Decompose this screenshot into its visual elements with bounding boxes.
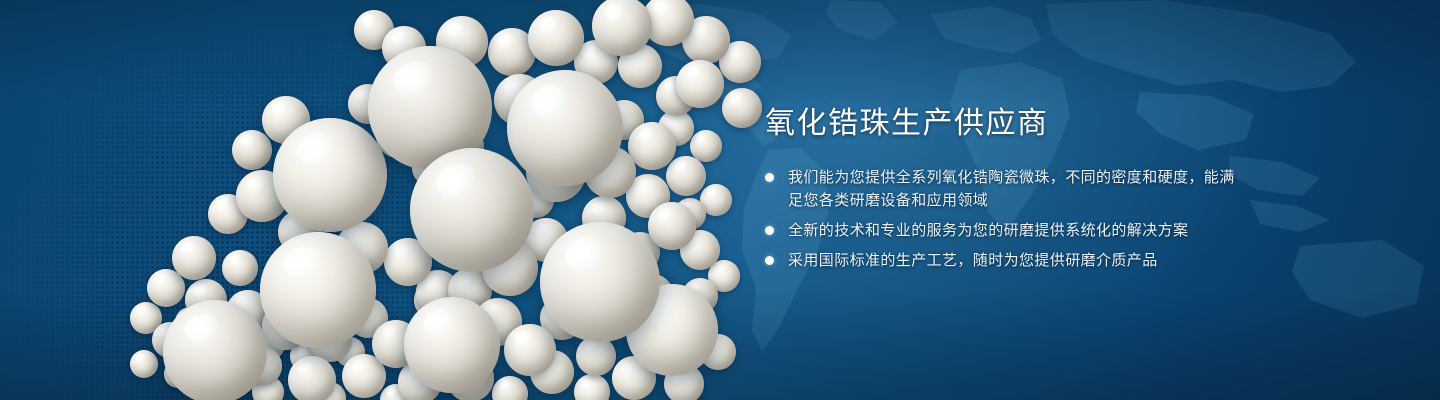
list-item: 我们能为您提供全系列氧化锆陶瓷微珠，不同的密度和硬度，能满足您各类研磨设备和应用… (765, 166, 1235, 212)
banner-copy: 氧化锆珠生产供应商 我们能为您提供全系列氧化锆陶瓷微珠，不同的密度和硬度，能满足… (765, 104, 1235, 279)
bead (273, 118, 387, 232)
bead (648, 202, 696, 250)
list-item-label: 采用国际标准的生产工艺，随时为您提供研磨介质产品 (788, 249, 1158, 272)
bead (628, 122, 676, 170)
bead (163, 300, 267, 400)
page-title: 氧化锆珠生产供应商 (765, 104, 1235, 144)
bead (528, 10, 584, 66)
bead (410, 148, 534, 272)
bead (404, 297, 500, 393)
list-item-label: 全新的技术和专业的服务为您的研磨提供系统化的解决方案 (788, 219, 1188, 242)
list-item: 全新的技术和专业的服务为您的研磨提供系统化的解决方案 (765, 219, 1235, 242)
bullet-dot-icon (765, 256, 774, 265)
list-item: 采用国际标准的生产工艺，随时为您提供研磨介质产品 (765, 249, 1235, 272)
bead (232, 130, 272, 170)
bead (576, 336, 616, 376)
bead (504, 324, 556, 376)
bullet-dot-icon (765, 226, 774, 235)
bead (666, 156, 706, 196)
bead (288, 356, 336, 400)
bead (260, 232, 376, 348)
bead (130, 350, 158, 378)
hero-banner: 氧化锆珠生产供应商 我们能为您提供全系列氧化锆陶瓷微珠，不同的密度和硬度，能满足… (0, 0, 1440, 400)
feature-list: 我们能为您提供全系列氧化锆陶瓷微珠，不同的密度和硬度，能满足您各类研磨设备和应用… (765, 166, 1235, 272)
bead (540, 222, 660, 342)
bullet-dot-icon (765, 173, 774, 182)
bead (722, 88, 762, 128)
list-item-label: 我们能为您提供全系列氧化锆陶瓷微珠，不同的密度和硬度，能满足您各类研磨设备和应用… (788, 166, 1235, 212)
bead (507, 70, 623, 186)
bead (172, 236, 216, 280)
bead (676, 60, 724, 108)
bead (222, 250, 258, 286)
